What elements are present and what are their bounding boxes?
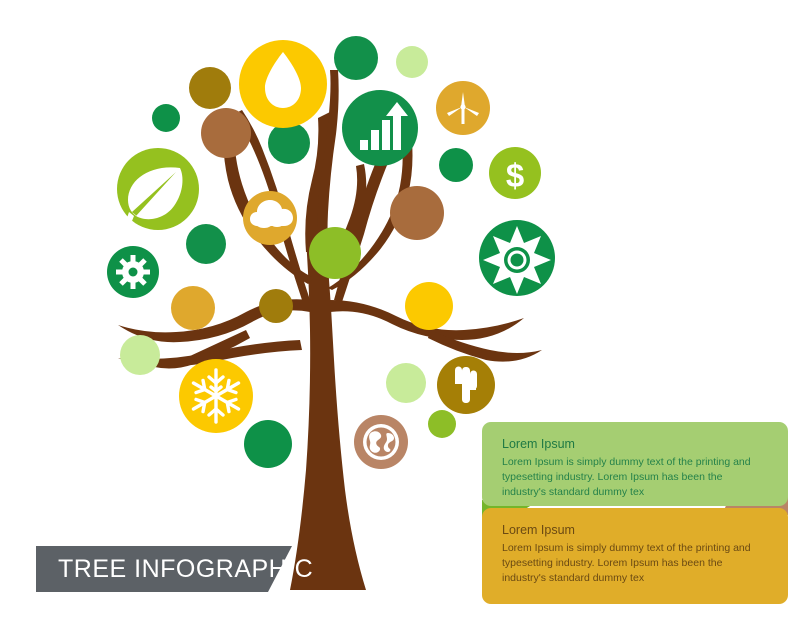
foliage-circle — [186, 224, 226, 264]
callout-gold[interactable]: Lorem Ipsum Lorem Ipsum is simply dummy … — [482, 508, 788, 604]
foliage-circle — [390, 186, 444, 240]
wind-turbine-icon[interactable] — [436, 81, 490, 135]
foliage-circle — [405, 282, 453, 330]
svg-text:$: $ — [506, 157, 524, 194]
foliage-circle — [268, 122, 310, 164]
callout-green-title: Lorem Ipsum — [502, 436, 768, 453]
foliage-circle — [386, 363, 426, 403]
gear-icon[interactable] — [107, 246, 159, 298]
callout-gold-body: Lorem Ipsum is simply dummy text of the … — [502, 541, 764, 586]
leaf-icon[interactable] — [117, 148, 199, 230]
cloud-icon[interactable] — [243, 191, 297, 245]
foliage-circle — [171, 286, 215, 330]
foliage-circle — [201, 108, 251, 158]
foliage-circle — [334, 36, 378, 80]
foliage-circle — [120, 335, 160, 375]
infographic-canvas: $ — [0, 0, 800, 623]
snowflake-icon[interactable] — [179, 359, 253, 433]
foliage-circle — [439, 148, 473, 182]
cactus-icon[interactable] — [437, 356, 495, 414]
title-banner: TREE INFOGRAPHIC — [36, 546, 292, 592]
globe-icon[interactable] — [354, 415, 408, 469]
callout-green-body: Lorem Ipsum is simply dummy text of the … — [502, 455, 764, 500]
callout-gold-title: Lorem Ipsum — [502, 522, 768, 539]
dollar-sign-icon[interactable]: $ — [489, 147, 541, 199]
foliage-circle — [259, 289, 293, 323]
foliage-circle — [244, 420, 292, 468]
bar-chart-growth-icon[interactable] — [342, 90, 418, 166]
foliage-circle — [152, 104, 180, 132]
tree-trunk-group — [118, 70, 542, 590]
foliage-circle — [309, 227, 361, 279]
foliage-circle — [189, 67, 231, 109]
foliage-circle — [428, 410, 456, 438]
page-title: TREE INFOGRAPHIC — [58, 555, 313, 584]
foliage-circle — [396, 46, 428, 78]
sun-icon[interactable] — [479, 220, 555, 296]
water-drop-icon[interactable] — [239, 40, 327, 128]
callout-green[interactable]: Lorem Ipsum Lorem Ipsum is simply dummy … — [482, 422, 788, 506]
